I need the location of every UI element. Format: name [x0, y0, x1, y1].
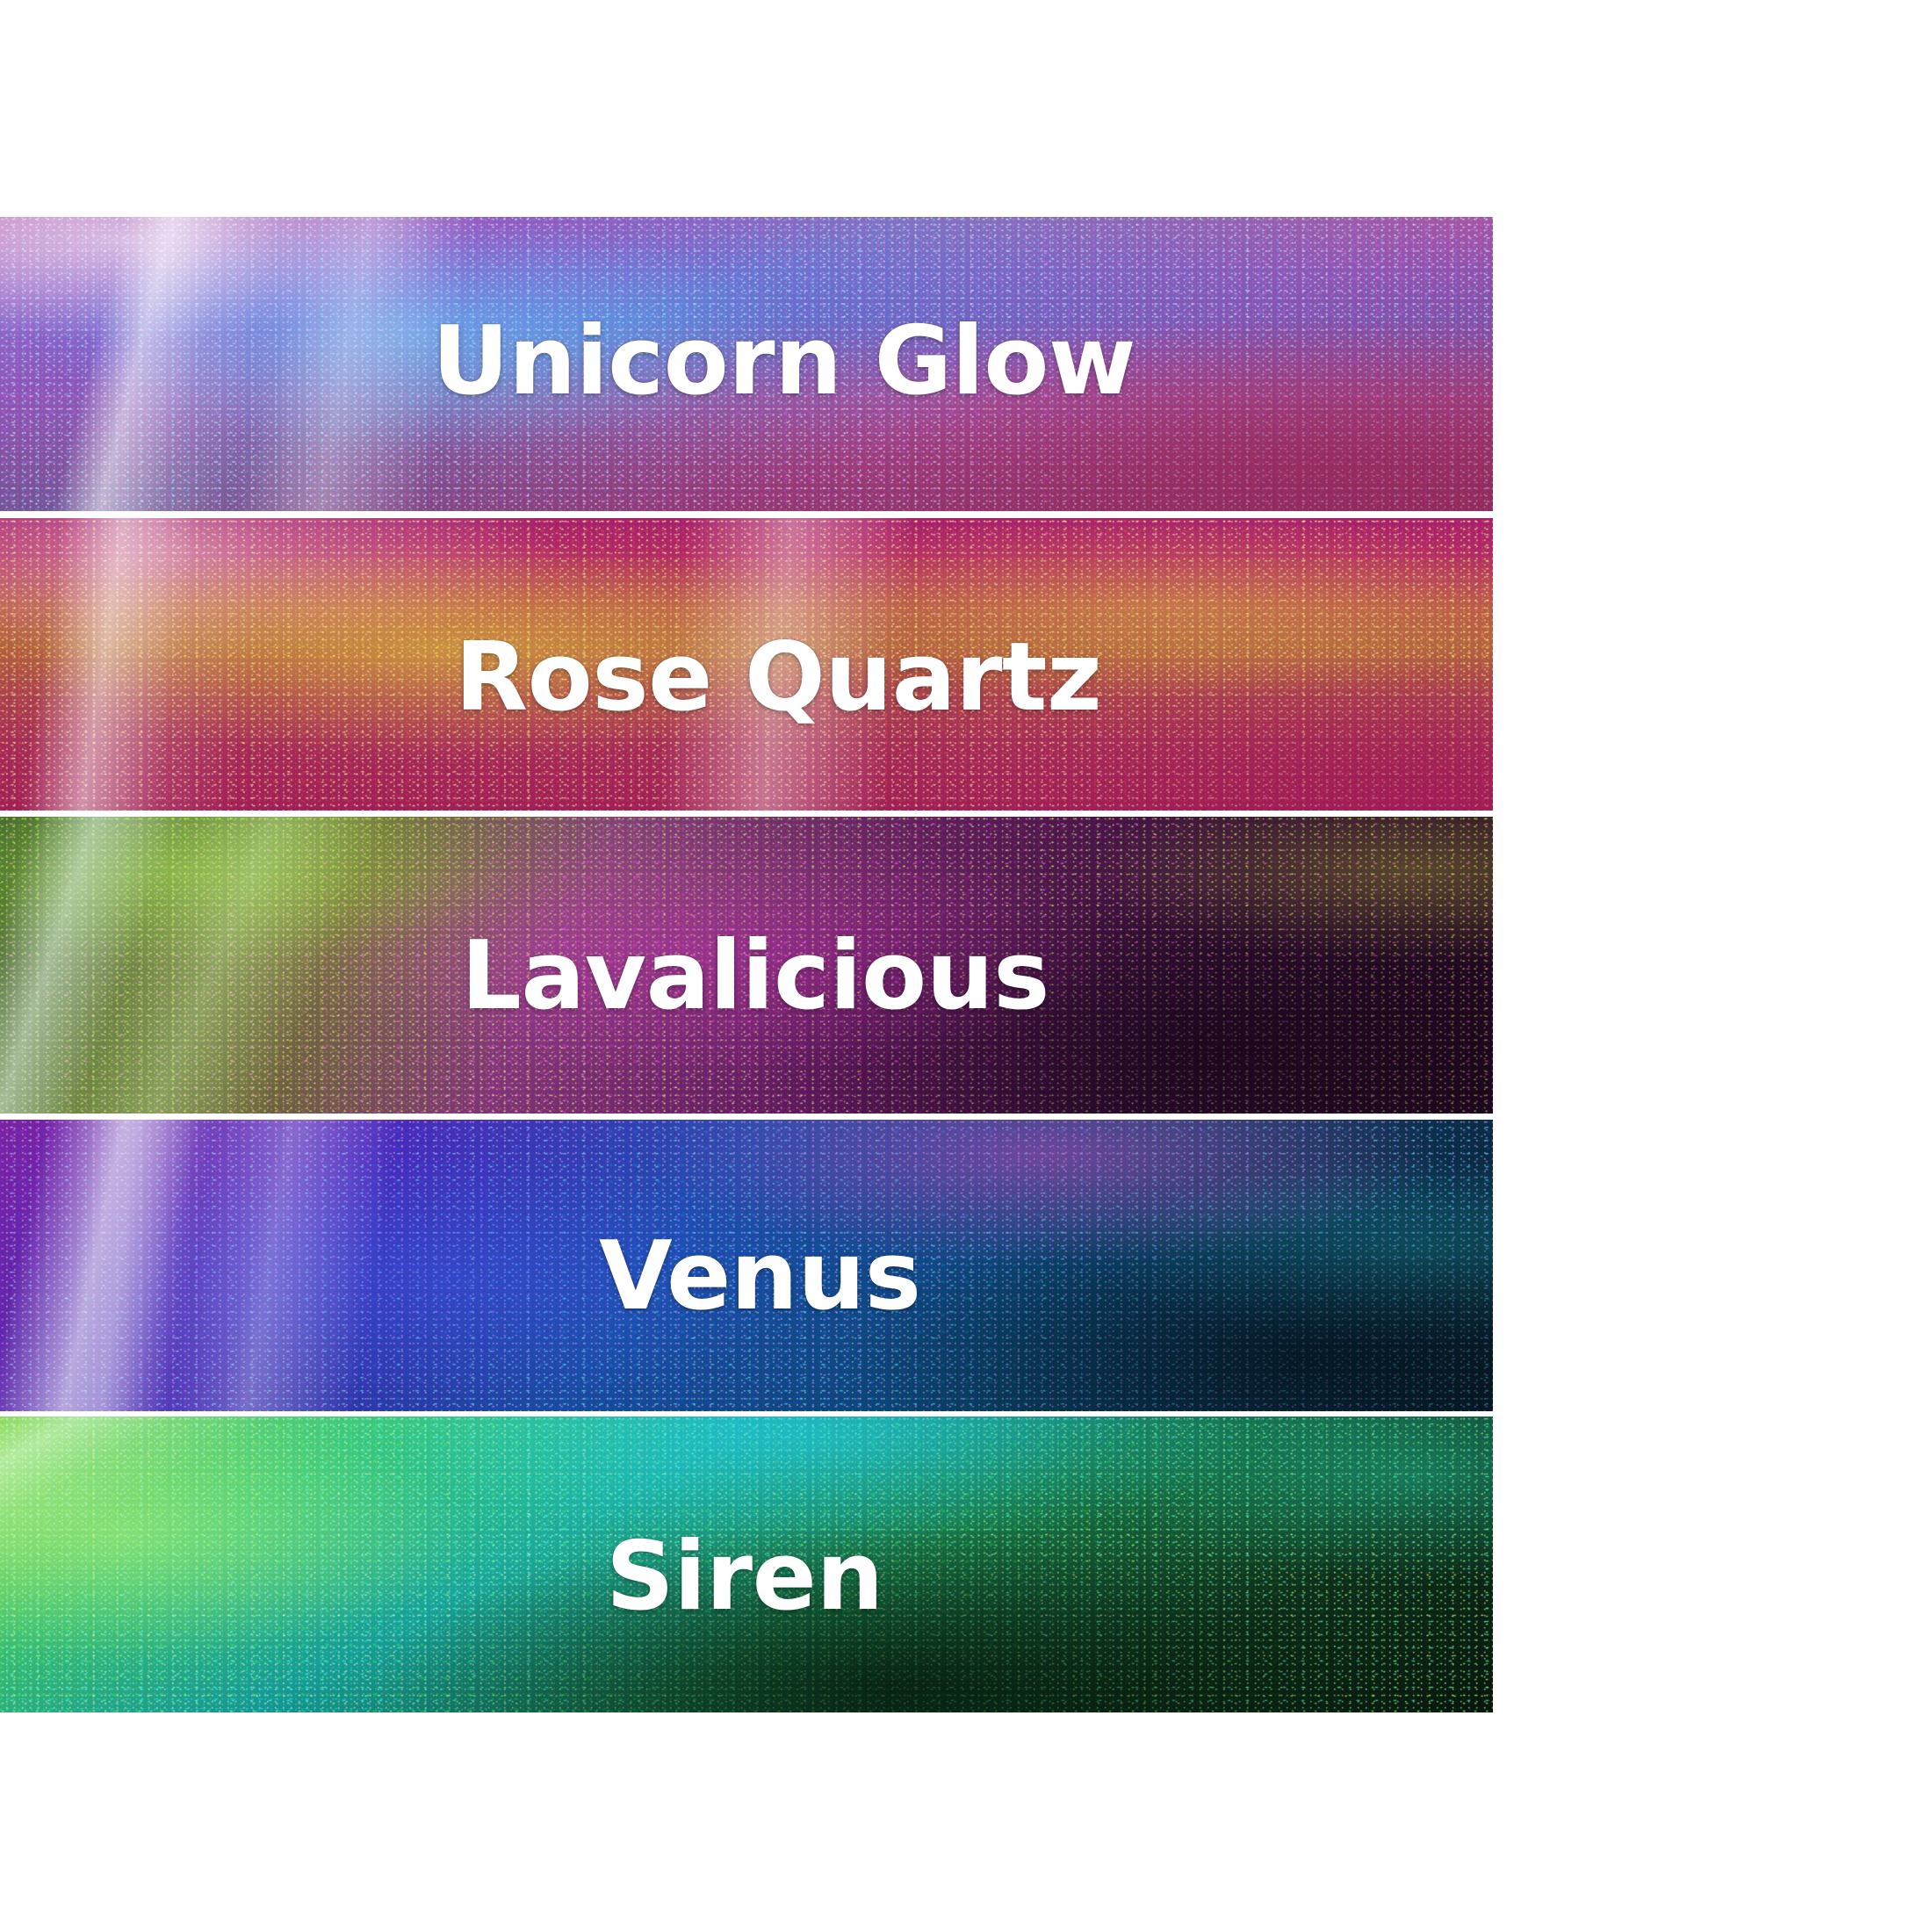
swatch-label-venus: Venus: [599, 1229, 920, 1324]
swatch-board: Unicorn Glow Rose Quartz Lavalicious Ven…: [0, 0, 1932, 1932]
swatch-label-rose-quartz: Rose Quartz: [455, 631, 1101, 725]
swatch-label-unicorn-glow: Unicorn Glow: [432, 314, 1135, 409]
swatch-label-lavalicious: Lavalicious: [461, 929, 1049, 1024]
swatch-label-siren: Siren: [606, 1530, 883, 1625]
